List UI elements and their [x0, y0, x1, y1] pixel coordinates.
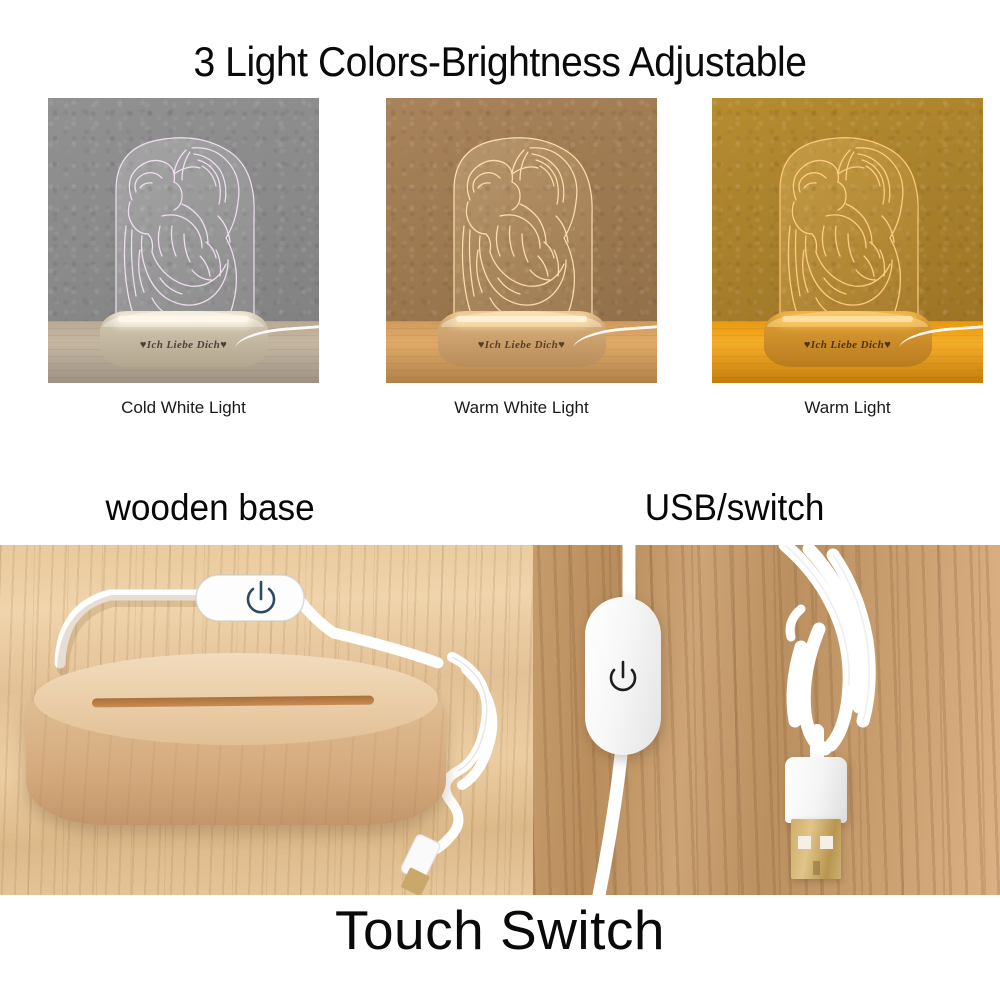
acrylic-panel-artwork: [96, 130, 272, 335]
page-title: 3 Light Colors-Brightness Adjustable: [35, 38, 965, 86]
base-glow-slot: [782, 316, 913, 322]
lamp-variant-cold-white[interactable]: ♥Ich Liebe Dich♥ Cold White Light: [48, 98, 319, 418]
usb-contacts: [791, 819, 841, 879]
product-detail-photos: [0, 545, 1000, 895]
inline-touch-switch[interactable]: [585, 597, 661, 755]
lamp-variant-warm[interactable]: ♥Ich Liebe Dich♥ Warm Light: [712, 98, 983, 418]
acrylic-panel-artwork: [434, 130, 610, 335]
power-icon: [606, 659, 640, 693]
usb-housing: [785, 757, 847, 823]
base-glow-slot: [456, 316, 587, 322]
lamp-caption-cold-white: Cold White Light: [48, 398, 319, 418]
usb-notch: [813, 861, 820, 875]
lamp-caption-warm-white: Warm White Light: [386, 398, 657, 418]
lamp-caption-warm: Warm Light: [712, 398, 983, 418]
lamp-photo-warm: ♥Ich Liebe Dich♥: [712, 98, 983, 383]
lamp-photo-cold-white: ♥Ich Liebe Dich♥: [48, 98, 319, 383]
lamp-color-gallery: ♥Ich Liebe Dich♥ Cold White Light: [0, 98, 1000, 418]
lamp-variant-warm-white[interactable]: ♥Ich Liebe Dich♥ Warm White Light: [386, 98, 657, 418]
photo-usb-switch: [533, 545, 1000, 895]
photo-wooden-base: [0, 545, 533, 895]
section-heading-wooden-base: wooden base: [106, 487, 315, 529]
acrylic-panel-artwork: [760, 130, 936, 335]
footer-title: Touch Switch: [0, 898, 1000, 962]
usb-connector: [785, 757, 847, 881]
lamp-photo-warm-white: ♥Ich Liebe Dich♥: [386, 98, 657, 383]
base-glow-slot: [118, 316, 249, 322]
wooden-lamp-base-product: [26, 653, 446, 831]
section-heading-usb-switch: USB/switch: [645, 487, 825, 529]
